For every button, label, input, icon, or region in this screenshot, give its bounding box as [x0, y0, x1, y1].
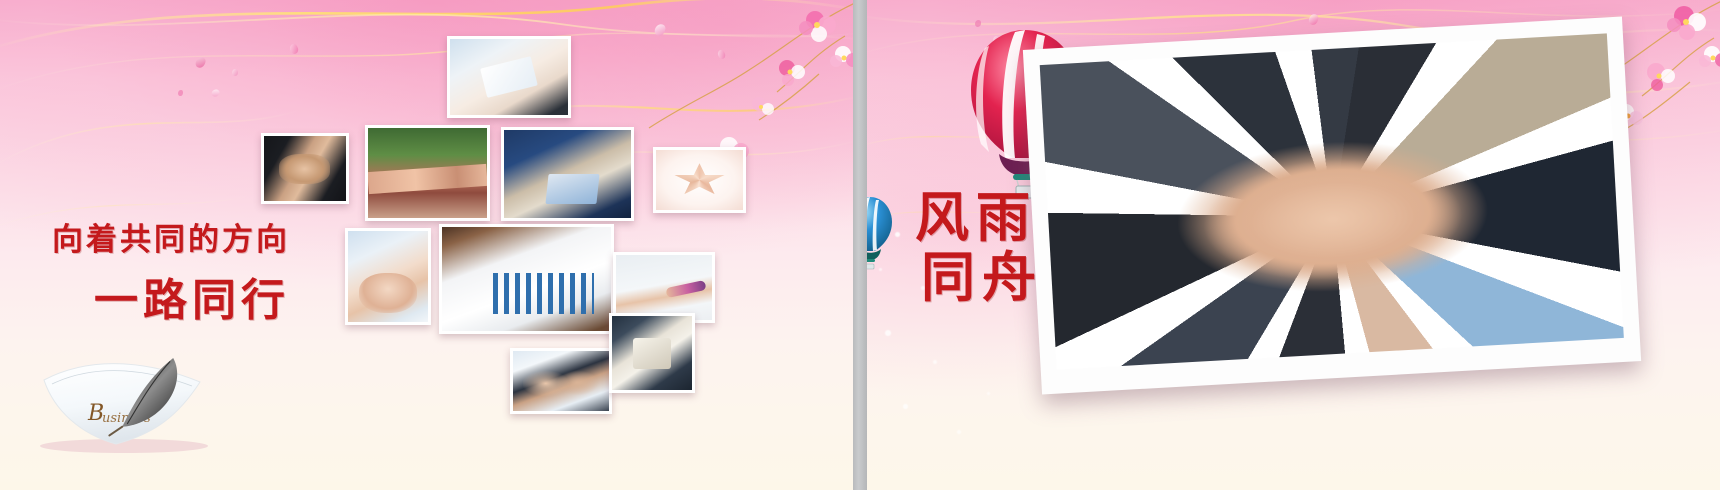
right-headline-line2: 同舟	[915, 248, 1043, 308]
collage-photo-relay-race-runners[interactable]	[365, 125, 490, 221]
collage-photo-hands-stacked-dark[interactable]	[261, 133, 349, 204]
photo-image	[368, 128, 487, 218]
collage-photo-conference-discussion[interactable]	[510, 348, 612, 414]
photo-image	[616, 255, 712, 320]
photo-image	[504, 130, 631, 218]
photo-image	[348, 231, 428, 322]
photo-image	[612, 316, 692, 390]
collage-photo-overhead-desk-teamwork[interactable]	[609, 313, 695, 393]
photo-image	[450, 39, 568, 115]
collage-photo-hands-star-formation[interactable]	[653, 147, 746, 213]
panel-divider	[853, 0, 867, 490]
slide-deck: 向着共同的方向 一路同行	[0, 0, 1720, 490]
collage-photo-business-card-exchange[interactable]	[447, 36, 571, 118]
framed-team-photo[interactable]	[1023, 17, 1641, 395]
collage-photo-data-chart-analysis[interactable]	[439, 224, 614, 334]
right-headline-line1: 风雨	[915, 188, 1043, 248]
photo-image	[264, 136, 346, 201]
collage-photo-hands-stacked-light[interactable]	[345, 228, 431, 325]
collage-photo-overhead-team-meeting[interactable]	[501, 127, 634, 221]
right-slide-panel: 风雨 同舟	[867, 0, 1720, 490]
left-headline: 向着共同的方向 一路同行	[52, 214, 290, 328]
right-headline: 风雨 同舟	[915, 188, 1043, 309]
left-headline-line2: 一路同行	[52, 264, 290, 328]
hot-air-balloon-blue-icon	[867, 196, 893, 270]
photo-image	[656, 150, 743, 210]
left-headline-line1: 向着共同的方向	[52, 214, 290, 259]
photo-image	[442, 227, 611, 331]
left-slide-panel: 向着共同的方向 一路同行	[0, 0, 853, 490]
photo-image	[513, 351, 609, 411]
business-paper-with-quill: B usiness	[28, 338, 218, 456]
team-hands-in-circle-image	[1040, 33, 1624, 369]
